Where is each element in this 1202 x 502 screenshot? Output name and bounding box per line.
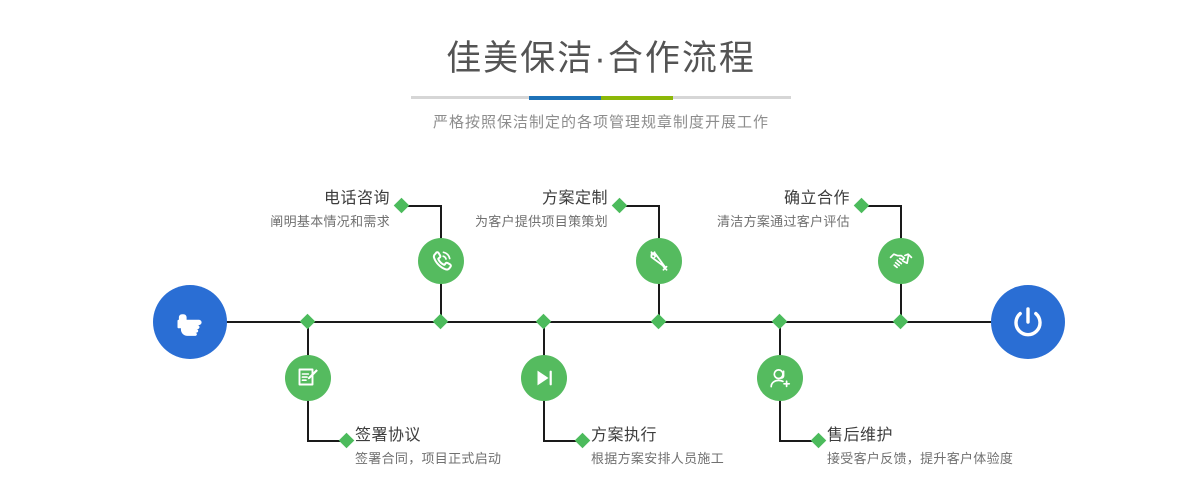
flow-end-endpoint — [991, 285, 1065, 359]
step-5-icon-node[interactable] — [878, 238, 924, 284]
step-2-icon-node[interactable] — [285, 355, 331, 401]
step-2-label-diamond — [339, 433, 355, 449]
flow-start-endpoint — [153, 285, 227, 359]
step-2-label: 签署协议 签署合同，项目正式启动 — [355, 425, 615, 469]
pencil-design-icon — [646, 248, 672, 274]
phone-call-icon — [428, 248, 454, 274]
step-2-axis-diamond — [300, 314, 316, 330]
step-6-title: 售后维护 — [827, 425, 1117, 447]
step-6-axis-diamond — [772, 314, 788, 330]
step-1-axis-diamond — [433, 314, 449, 330]
step-5-axis-diamond — [893, 314, 909, 330]
title-divider — [411, 96, 791, 99]
header: 佳美保洁·合作流程 严格按照保洁制定的各项管理规章制度开展工作 — [0, 0, 1202, 132]
page-title: 佳美保洁·合作流程 — [0, 36, 1202, 82]
step-6-desc: 接受客户反馈，提升客户体验度 — [827, 449, 1117, 469]
step-4-title: 方案执行 — [591, 425, 861, 447]
play-forward-icon — [531, 365, 557, 391]
step-4-desc: 根据方案安排人员施工 — [591, 449, 861, 469]
step-6-label: 售后维护 接受客户反馈，提升客户体验度 — [827, 425, 1117, 469]
step-4-axis-diamond — [536, 314, 552, 330]
step-5-label: 确立合作 清洁方案通过客户评估 — [600, 188, 850, 232]
step-3-desc: 为客户提供项目策策划 — [360, 212, 608, 232]
process-flow-infographic: 佳美保洁·合作流程 严格按照保洁制定的各项管理规章制度开展工作 — [0, 0, 1202, 502]
document-sign-icon — [295, 365, 321, 391]
divider-green-segment — [601, 96, 673, 100]
step-3-title: 方案定制 — [360, 188, 608, 210]
page-subtitle: 严格按照保洁制定的各项管理规章制度开展工作 — [0, 111, 1202, 132]
divider-blue-segment — [529, 96, 601, 100]
handshake-icon — [888, 248, 914, 274]
power-icon — [1007, 301, 1049, 343]
step-5-title: 确立合作 — [600, 188, 850, 210]
step-5-desc: 清洁方案通过客户评估 — [600, 212, 850, 232]
step-3-icon-node[interactable] — [636, 238, 682, 284]
pointing-hand-icon — [170, 302, 210, 342]
step-1-desc: 阐明基本情况和需求 — [140, 212, 390, 232]
step-3-axis-diamond — [651, 314, 667, 330]
step-2-desc: 签署合同，项目正式启动 — [355, 449, 615, 469]
step-2-title: 签署协议 — [355, 425, 615, 447]
step-1-label: 电话咨询 阐明基本情况和需求 — [140, 188, 390, 232]
step-4-icon-node[interactable] — [521, 355, 567, 401]
step-4-label: 方案执行 根据方案安排人员施工 — [591, 425, 861, 469]
step-1-title: 电话咨询 — [140, 188, 390, 210]
step-5-label-diamond — [854, 198, 870, 214]
customer-service-add-icon — [767, 365, 793, 391]
step-6-icon-node[interactable] — [757, 355, 803, 401]
step-3-label: 方案定制 为客户提供项目策策划 — [360, 188, 608, 232]
step-1-icon-node[interactable] — [418, 238, 464, 284]
